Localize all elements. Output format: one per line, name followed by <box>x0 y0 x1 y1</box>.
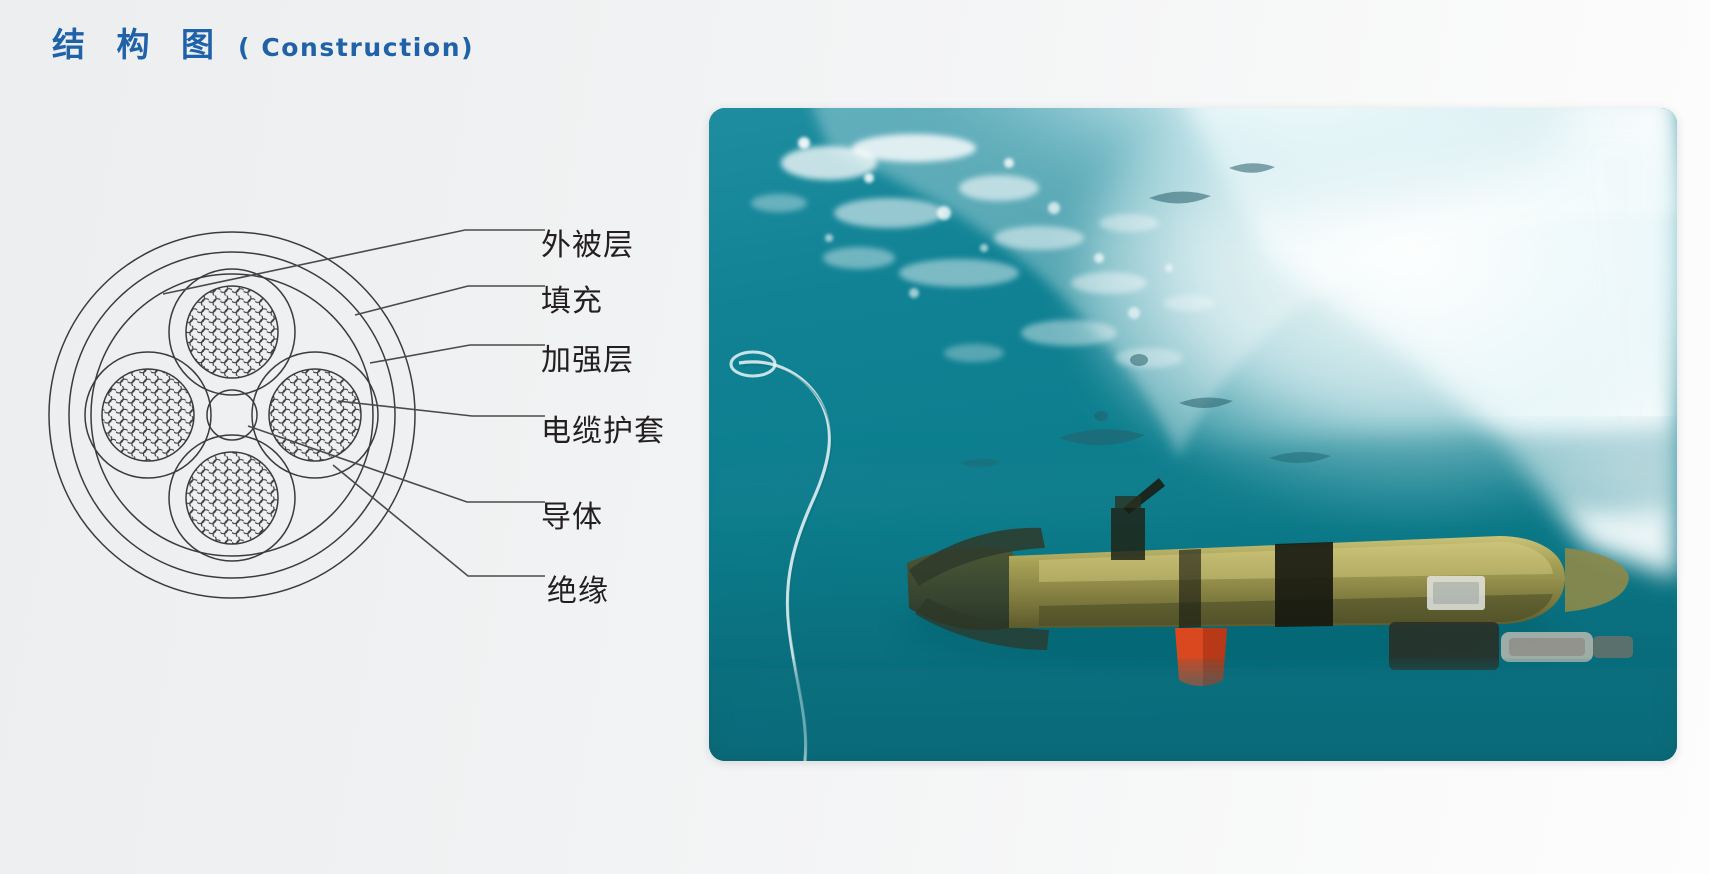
page-title-en: ( Construction) <box>238 33 474 62</box>
callout-label-insulation: 绝缘 <box>547 566 609 610</box>
callout-label-conductor: 导体 <box>541 492 603 536</box>
auv-collar-band <box>1275 542 1333 627</box>
underwater-auv-photo <box>709 108 1677 761</box>
leader-cable-jacket <box>338 401 545 416</box>
core-group-bottom <box>169 435 295 561</box>
auv-collar-band-2 <box>1179 549 1201 628</box>
foreground-haze <box>709 668 1677 761</box>
callout-label-outer-sheath: 外被层 <box>541 220 634 264</box>
leader-strength-member <box>370 345 545 363</box>
callout-label-cable-jacket: 电缆护套 <box>541 406 665 450</box>
callout-label-strength-member: 加强层 <box>541 335 634 379</box>
leader-outer-sheath <box>163 230 545 294</box>
page-title: 结 构 图 ( Construction) <box>52 18 474 66</box>
core-group-top <box>169 269 295 395</box>
core-group-right <box>252 352 378 478</box>
auv-label-plate-inner <box>1433 582 1479 604</box>
callout-label-filler: 填充 <box>541 276 603 320</box>
page-title-cn: 结 构 图 <box>52 18 224 66</box>
central-filler <box>207 390 257 440</box>
conductor-strands-top <box>180 280 290 390</box>
leader-filler <box>355 286 545 315</box>
slide-root: 结 构 图 ( Construction) <box>0 0 1710 874</box>
callout-label-list: 外被层 填充 加强层 电缆护套 导体 绝缘 <box>541 200 731 630</box>
core-group-left <box>85 352 211 478</box>
leader-insulation <box>333 465 545 576</box>
